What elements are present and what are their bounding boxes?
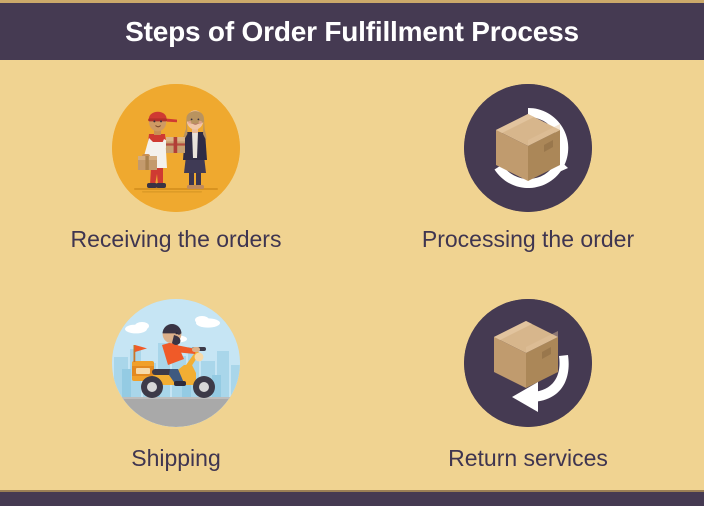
footer-bar: [0, 492, 704, 506]
steps-body: Receiving the orders: [0, 60, 704, 492]
step-card-receiving[interactable]: Receiving the orders: [0, 60, 352, 276]
step-label-shipping: Shipping: [131, 447, 221, 470]
step-card-processing[interactable]: Processing the order: [352, 60, 704, 276]
step-label-return: Return services: [448, 447, 608, 470]
scooter-delivery-illustration-icon: [112, 299, 240, 427]
header-bar: Steps of Order Fulfillment Process: [0, 3, 704, 60]
step-card-return[interactable]: Return services: [352, 276, 704, 492]
step-label-receiving: Receiving the orders: [71, 228, 282, 251]
step-label-processing: Processing the order: [422, 228, 634, 251]
handover-package-illustration-icon: [112, 84, 240, 212]
step-card-shipping[interactable]: Shipping: [0, 276, 352, 492]
page-title: Steps of Order Fulfillment Process: [125, 18, 579, 46]
infographic-root: Steps of Order Fulfillment Process: [0, 0, 704, 506]
box-circular-arrow-icon: [464, 84, 592, 212]
box-return-arrow-icon: [464, 299, 592, 427]
steps-grid: Receiving the orders: [0, 60, 704, 492]
